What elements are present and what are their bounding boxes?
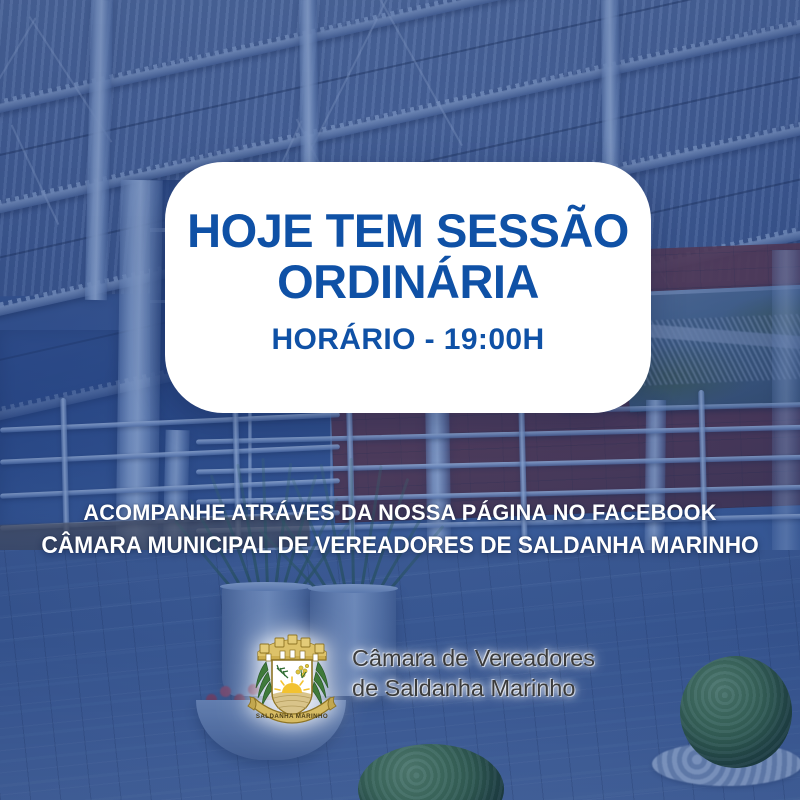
headline: HOJE TEM SESSÃO ORDINÁRIA [187,206,629,307]
callout-line-1: ACOMPANHE ATRÁVES DA NOSSA PÁGINA NO FAC… [14,500,786,526]
logo-wordmark: Câmara de Vereadores de Saldanha Marinho [352,644,595,703]
callout-line-2: CÂMARA MUNICIPAL DE VEREADORES DE SALDAN… [20,532,780,560]
crest-banner-text: SALDANHA MARINHO [256,713,328,720]
social-media-poster: HOJE TEM SESSÃO ORDINÁRIA HORÁRIO - 19:0… [0,0,800,800]
coat-of-arms-icon: SALDANHA MARINHO [244,618,340,730]
logo-lockup: SALDANHA MARINHO Câmara de Vereadores de… [244,618,595,730]
headline-line-1: HOJE TEM SESSÃO [187,204,629,257]
callout-block: ACOMPANHE ATRÁVES DA NOSSA PÁGINA NO FAC… [0,500,800,560]
headline-line-2: ORDINÁRIA [187,257,629,307]
announcement-card: HOJE TEM SESSÃO ORDINÁRIA HORÁRIO - 19:0… [165,162,651,413]
schedule-text: HORÁRIO - 19:00H [271,323,544,357]
logo-name-line-2: de Saldanha Marinho [352,674,595,704]
logo-name-line-1: Câmara de Vereadores [352,644,595,674]
